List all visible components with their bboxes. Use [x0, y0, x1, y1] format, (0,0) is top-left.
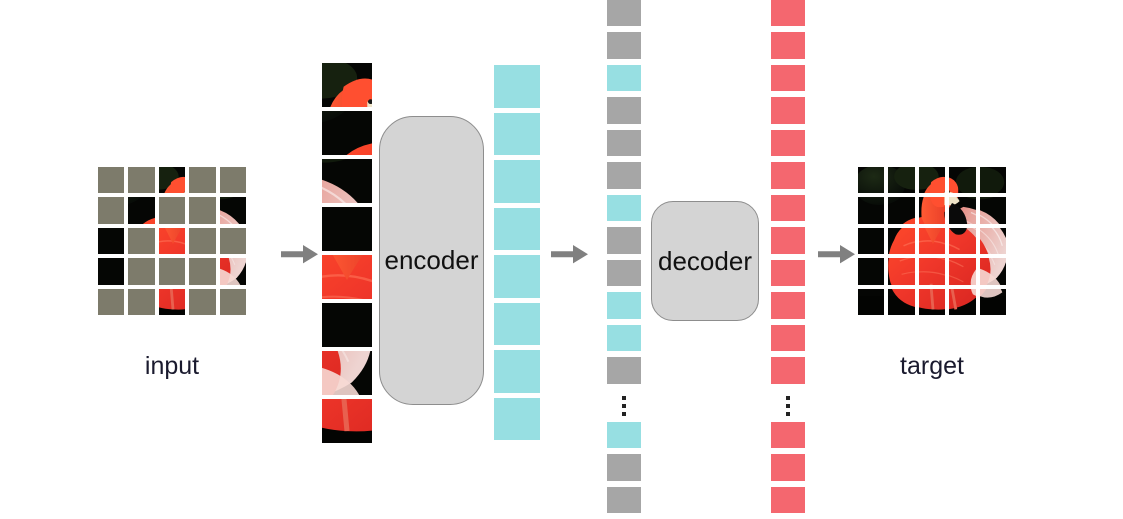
arrow-decoder-to-target — [818, 244, 856, 264]
mask-token — [607, 487, 641, 513]
visible-patch — [128, 197, 154, 223]
target-patch — [949, 289, 975, 315]
output-token — [771, 325, 805, 351]
unmasked-patch-sequence — [322, 63, 372, 443]
latent-token — [494, 350, 540, 393]
patch-image — [858, 289, 884, 315]
patch-image — [858, 197, 884, 223]
patch-token — [322, 351, 372, 395]
target-patch — [888, 228, 914, 254]
target-patch — [980, 167, 1006, 193]
patch-image — [98, 258, 124, 284]
visible-patch — [98, 258, 124, 284]
patch-image — [949, 258, 975, 284]
encoded-latent-token-column — [494, 65, 540, 445]
masked-patch — [98, 197, 124, 223]
masked-patch — [128, 289, 154, 315]
encoder-label: encoder — [385, 245, 479, 276]
output-token — [771, 227, 805, 253]
patch-image — [919, 228, 945, 254]
masked-patch — [128, 258, 154, 284]
masked-patch — [220, 289, 246, 315]
target-patch — [949, 258, 975, 284]
target-patch — [949, 167, 975, 193]
patch-image — [949, 167, 975, 193]
patch-image — [888, 197, 914, 223]
latent-token — [607, 422, 641, 448]
decoder-block[interactable]: decoder — [651, 201, 759, 321]
masked-patch — [159, 197, 185, 223]
latent-token — [494, 65, 540, 108]
patch-image — [888, 258, 914, 284]
output-token — [771, 292, 805, 318]
target-patch — [888, 258, 914, 284]
output-token — [771, 0, 805, 26]
patch-token — [322, 111, 372, 155]
patch-token — [322, 63, 372, 107]
output-token — [771, 454, 805, 480]
patch-image — [919, 289, 945, 315]
target-patch — [980, 228, 1006, 254]
patch-image — [949, 228, 975, 254]
patch-token — [322, 399, 372, 443]
target-patch-grid — [858, 167, 1006, 315]
arrow-input-to-patches — [281, 244, 319, 264]
patch-image — [858, 228, 884, 254]
patch-image — [888, 289, 914, 315]
masked-patch — [98, 289, 124, 315]
visible-patch — [159, 167, 185, 193]
input-patch-grid — [98, 167, 246, 315]
masked-patch — [189, 258, 215, 284]
visible-patch — [220, 197, 246, 223]
masked-patch — [189, 167, 215, 193]
target-patch — [858, 258, 884, 284]
output-token — [771, 32, 805, 58]
target-patch — [980, 197, 1006, 223]
target-patch — [980, 289, 1006, 315]
patch-token — [322, 303, 372, 347]
masked-patch — [220, 228, 246, 254]
patch-image — [980, 167, 1006, 193]
patch-image — [980, 258, 1006, 284]
patch-image — [858, 167, 884, 193]
output-token — [771, 260, 805, 286]
target-patch — [888, 167, 914, 193]
patch-image — [888, 228, 914, 254]
masked-patch — [189, 197, 215, 223]
patch-image — [949, 289, 975, 315]
patch-image — [980, 228, 1006, 254]
masked-patch — [128, 167, 154, 193]
latent-token — [494, 303, 540, 346]
visible-patch — [159, 228, 185, 254]
latent-token — [494, 208, 540, 251]
target-patch — [888, 197, 914, 223]
full-token-sequence-column — [607, 0, 641, 519]
target-patch — [858, 197, 884, 223]
latent-token — [607, 292, 641, 318]
masked-patch — [128, 228, 154, 254]
output-token — [771, 422, 805, 448]
output-token — [771, 65, 805, 91]
arrow-latent-to-decoder — [551, 244, 589, 264]
patch-image — [919, 197, 945, 223]
mask-token — [607, 0, 641, 26]
masked-patch — [189, 228, 215, 254]
masked-patch — [159, 258, 185, 284]
patch-image — [919, 167, 945, 193]
patch-image — [980, 289, 1006, 315]
target-patch — [949, 228, 975, 254]
patch-token — [322, 159, 372, 203]
mask-token — [607, 260, 641, 286]
output-token — [771, 162, 805, 188]
output-token — [771, 130, 805, 156]
visible-patch — [220, 258, 246, 284]
visible-patch — [159, 289, 185, 315]
patch-image — [128, 197, 154, 223]
patch-image — [220, 197, 246, 223]
masked-patch — [189, 289, 215, 315]
mask-token — [607, 454, 641, 480]
patch-image — [98, 228, 124, 254]
target-patch — [919, 197, 945, 223]
vertical-ellipsis-icon — [771, 390, 805, 422]
visible-patch — [98, 228, 124, 254]
patch-image — [919, 258, 945, 284]
vertical-ellipsis-icon — [607, 390, 641, 422]
patch-token — [322, 207, 372, 251]
output-token — [771, 97, 805, 123]
patch-image — [888, 167, 914, 193]
target-patch — [949, 197, 975, 223]
latent-token — [494, 398, 540, 441]
masked-patch — [98, 167, 124, 193]
latent-token — [494, 255, 540, 298]
patch-image — [980, 197, 1006, 223]
target-patch — [888, 289, 914, 315]
patch-image — [949, 197, 975, 223]
target-patch — [858, 289, 884, 315]
output-token — [771, 487, 805, 513]
latent-token — [607, 195, 641, 221]
reconstructed-token-column — [771, 0, 805, 519]
patch-image — [159, 289, 185, 315]
target-patch — [858, 167, 884, 193]
patch-token — [322, 255, 372, 299]
target-patch — [919, 167, 945, 193]
latent-token — [494, 160, 540, 203]
patch-image — [159, 228, 185, 254]
patch-image — [220, 258, 246, 284]
output-token — [771, 195, 805, 221]
mask-token — [607, 227, 641, 253]
target-patch — [919, 228, 945, 254]
latent-token — [607, 65, 641, 91]
input-caption: input — [98, 352, 246, 381]
latent-token — [494, 113, 540, 156]
mask-token — [607, 130, 641, 156]
mask-token — [607, 97, 641, 123]
mask-token — [607, 357, 641, 383]
latent-token — [607, 325, 641, 351]
target-patch — [919, 258, 945, 284]
target-patch — [858, 228, 884, 254]
target-caption: target — [858, 352, 1006, 381]
mask-token — [607, 32, 641, 58]
target-patch — [980, 258, 1006, 284]
encoder-block[interactable]: encoder — [379, 116, 484, 405]
patch-image — [159, 167, 185, 193]
output-token — [771, 357, 805, 383]
mask-token — [607, 162, 641, 188]
patch-image — [858, 258, 884, 284]
masked-patch — [220, 167, 246, 193]
mae-architecture-diagram: input — [0, 0, 1123, 519]
decoder-label: decoder — [658, 246, 752, 277]
target-patch — [919, 289, 945, 315]
